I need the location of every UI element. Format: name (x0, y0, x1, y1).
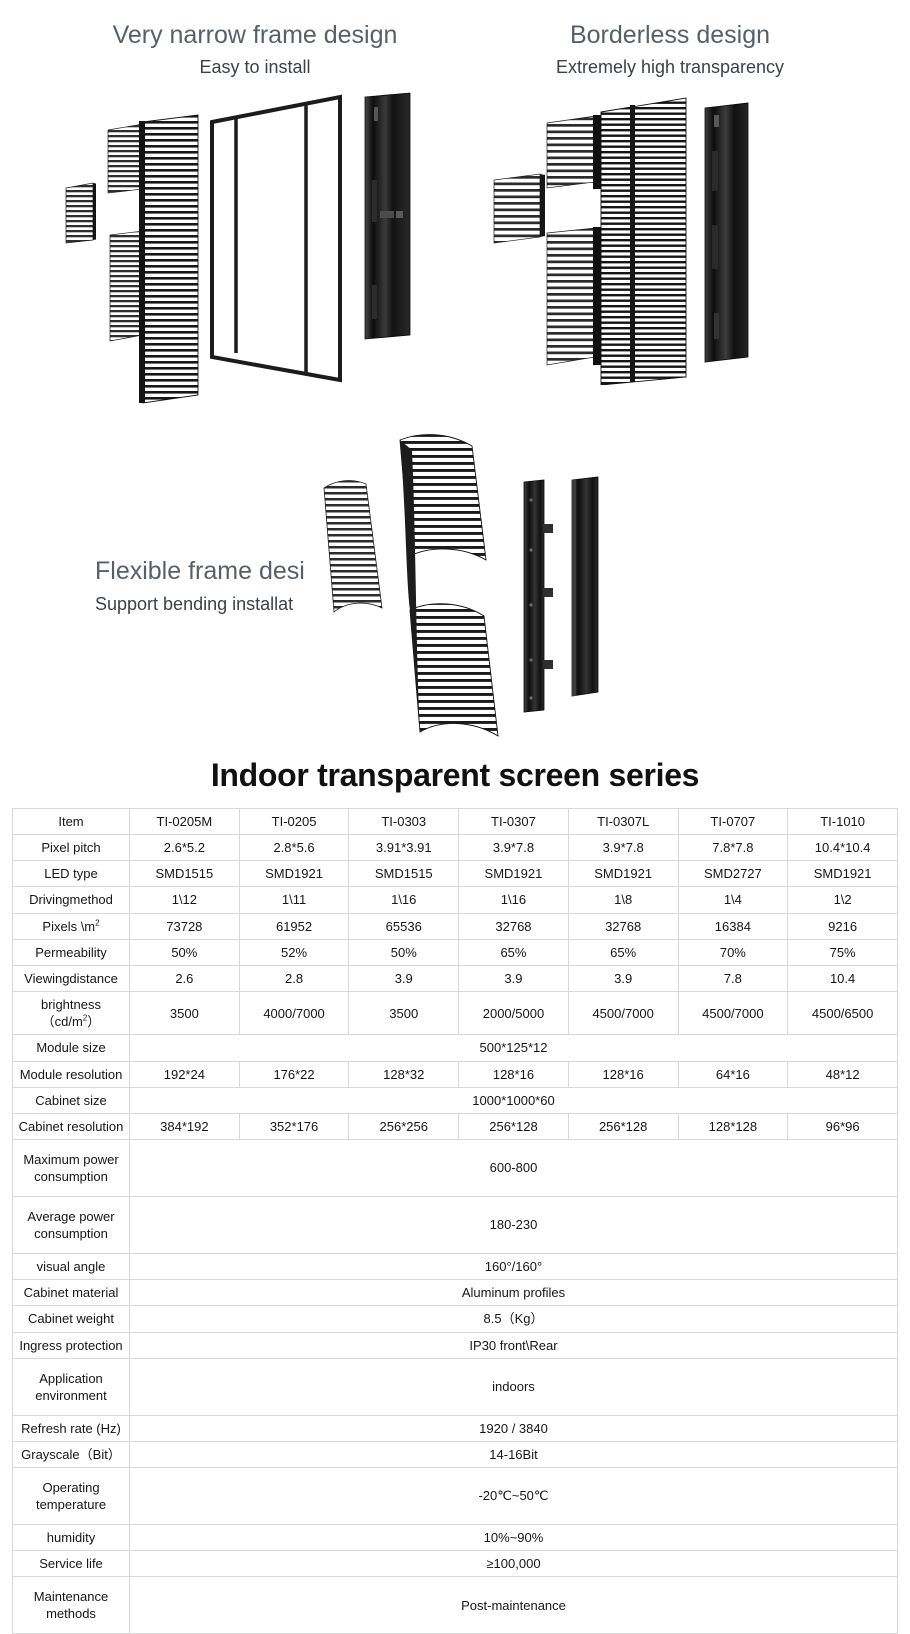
spec-table: ItemTI-0205MTI-0205TI-0303TI-0307TI-0307… (12, 808, 898, 1634)
table-cell: 256*128 (459, 1113, 569, 1139)
panel-connector-upper (593, 115, 601, 189)
table-row: Cabinet size1000*1000*60 (13, 1087, 898, 1113)
table-cell: 3.9*7.8 (459, 835, 569, 861)
table-cell-merged: 180-230 (130, 1197, 898, 1254)
led-mesh-subpanel-upper (547, 116, 595, 188)
table-cell: 2.6*5.2 (130, 835, 240, 861)
table-cell: 3.91*3.91 (349, 835, 459, 861)
table-row: Pixel pitch2.6*5.22.8*5.63.91*3.913.9*7.… (13, 835, 898, 861)
table-header-model: TI-0205 (239, 809, 349, 835)
table-row: Module resolution192*24176*22128*32128*1… (13, 1061, 898, 1087)
table-cell: 4500/7000 (568, 992, 678, 1035)
table-row: Drivingmethod1\121\111\161\161\81\41\2 (13, 887, 898, 913)
table-cell: SMD1515 (130, 861, 240, 887)
table-row: Cabinet materialAluminum profiles (13, 1280, 898, 1306)
table-cell-merged: 1920 / 3840 (130, 1415, 898, 1441)
table-row: Maintenance methodsPost-maintenance (13, 1577, 898, 1634)
table-cell: 32768 (568, 913, 678, 939)
table-row-label: Drivingmethod (13, 887, 130, 913)
exploded-panel-frame-illustration (40, 85, 460, 405)
table-row-label: Cabinet resolution (13, 1113, 130, 1139)
table-row-label: Application environment (13, 1358, 130, 1415)
table-cell: 96*96 (788, 1113, 898, 1139)
table-cell: 4000/7000 (239, 992, 349, 1035)
table-cell: SMD1921 (568, 861, 678, 887)
table-cell: 61952 (239, 913, 349, 939)
feature-borderless: Borderless design Extremely high transpa… (485, 22, 855, 78)
table-row-label: Cabinet material (13, 1280, 130, 1306)
table-cell: 3500 (349, 992, 459, 1035)
table-row: Operating temperature-20℃~50℃ (13, 1467, 898, 1524)
feature-flexible-frame-title: Flexible frame desi (95, 558, 445, 586)
table-cell: 50% (349, 939, 459, 965)
table-cell: 1\8 (568, 887, 678, 913)
table-cell: SMD2727 (678, 861, 788, 887)
table-cell: 75% (788, 939, 898, 965)
table-row-label: Cabinet weight (13, 1306, 130, 1332)
table-row-label: visual angle (13, 1254, 130, 1280)
table-header-row: ItemTI-0205MTI-0205TI-0303TI-0307TI-0307… (13, 809, 898, 835)
table-row: Maximum power consumption600-800 (13, 1140, 898, 1197)
table-cell-merged: 8.5（Kg） (130, 1306, 898, 1332)
exploded-borderless-panel-illustration (462, 85, 752, 385)
table-cell: 1\12 (130, 887, 240, 913)
table-cell-merged: 600-800 (130, 1140, 898, 1197)
table-header-model: TI-0307 (459, 809, 569, 835)
table-cell-merged: 160°/160° (130, 1254, 898, 1280)
table-row-label: Permeability (13, 939, 130, 965)
table-row-label: Pixels \m2 (13, 913, 130, 939)
table-row-label: brightness（cd/m2） (13, 992, 130, 1035)
small-led-module (66, 183, 96, 243)
table-cell: 384*192 (130, 1113, 240, 1139)
table-row: Pixels \m2737286195265536327683276816384… (13, 913, 898, 939)
table-cell: 2000/5000 (459, 992, 569, 1035)
table-cell: 10.4*10.4 (788, 835, 898, 861)
table-cell: 1\16 (459, 887, 569, 913)
feature-borderless-subtitle: Extremely high transparency (485, 57, 855, 78)
table-cell: 1\2 (788, 887, 898, 913)
table-header-model: TI-0303 (349, 809, 459, 835)
frame-profile-bar (705, 103, 748, 362)
feature-flexible-frame: Flexible frame desi Support bending inst… (40, 558, 445, 615)
table-cell: 73728 (130, 913, 240, 939)
table-cell-merged: Post-maintenance (130, 1577, 898, 1634)
table-cell-merged: Aluminum profiles (130, 1280, 898, 1306)
table-cell: 3.9 (349, 965, 459, 991)
table-header-model: TI-0205M (130, 809, 240, 835)
led-mesh-subpanel-lower (110, 231, 143, 341)
table-cell: 4500/6500 (788, 992, 898, 1035)
table-cell: 3500 (130, 992, 240, 1035)
table-row-label: Pixel pitch (13, 835, 130, 861)
cabinet-frame-wireframe (212, 97, 340, 380)
table-cell: 65% (459, 939, 569, 965)
table-row: Average power consumption180-230 (13, 1197, 898, 1254)
table-cell: 2.8*5.6 (239, 835, 349, 861)
table-cell: 3.9 (568, 965, 678, 991)
table-cell: 10.4 (788, 965, 898, 991)
table-row-label: Maximum power consumption (13, 1140, 130, 1197)
table-row-label: Cabinet size (13, 1087, 130, 1113)
table-cell-merged: indoors (130, 1358, 898, 1415)
table-cell: 16384 (678, 913, 788, 939)
feature-narrow-frame-title: Very narrow frame design (55, 22, 455, 50)
table-row-label: Service life (13, 1551, 130, 1577)
table-cell: 128*128 (678, 1113, 788, 1139)
table-cell: 1\11 (239, 887, 349, 913)
table-row: Cabinet resolution384*192352*176256*2562… (13, 1113, 898, 1139)
table-cell: 4500/7000 (678, 992, 788, 1035)
curved-led-panel-lower (410, 604, 498, 736)
led-mesh-panel-main (601, 98, 686, 385)
table-row: Permeability50%52%50%65%65%70%75% (13, 939, 898, 965)
table-cell-merged: 500*125*12 (130, 1035, 898, 1061)
table-cell: SMD1921 (788, 861, 898, 887)
table-row-label: Viewingdistance (13, 965, 130, 991)
table-cell: SMD1921 (239, 861, 349, 887)
table-header-model: TI-0707 (678, 809, 788, 835)
frame-profile-bar (365, 93, 410, 339)
table-cell: 3.9*7.8 (568, 835, 678, 861)
table-row-label: humidity (13, 1524, 130, 1550)
table-cell: 65% (568, 939, 678, 965)
table-row: visual angle160°/160° (13, 1254, 898, 1280)
table-cell: 52% (239, 939, 349, 965)
feature-narrow-frame-subtitle: Easy to install (55, 57, 455, 78)
table-cell: 256*128 (568, 1113, 678, 1139)
table-cell: 176*22 (239, 1061, 349, 1087)
table-header-model: TI-0307L (568, 809, 678, 835)
small-led-module (494, 174, 545, 243)
table-row-label: Average power consumption (13, 1197, 130, 1254)
table-cell: 64*16 (678, 1061, 788, 1087)
table-row-label: Module size (13, 1035, 130, 1061)
table-cell: 65536 (349, 913, 459, 939)
feature-flexible-frame-subtitle: Support bending installat (95, 594, 445, 615)
table-cell: 48*12 (788, 1061, 898, 1087)
table-cell: SMD1921 (459, 861, 569, 887)
table-row: Module size500*125*12 (13, 1035, 898, 1061)
table-cell: 2.8 (239, 965, 349, 991)
feature-borderless-title: Borderless design (485, 22, 855, 50)
table-row-label: Grayscale（Bit） (13, 1441, 130, 1467)
table-row: humidity10%~90% (13, 1524, 898, 1550)
table-cell: 128*16 (459, 1061, 569, 1087)
table-row-label: Refresh rate (Hz) (13, 1415, 130, 1441)
table-cell-merged: IP30 front\Rear (130, 1332, 898, 1358)
table-cell: 2.6 (130, 965, 240, 991)
table-header-model: TI-1010 (788, 809, 898, 835)
table-row: brightness（cd/m2）35004000/700035002000/5… (13, 992, 898, 1035)
table-cell: 32768 (459, 913, 569, 939)
series-title: Indoor transparent screen series (0, 757, 910, 794)
table-row: Application environmentindoors (13, 1358, 898, 1415)
table-row-label: Ingress protection (13, 1332, 130, 1358)
table-cell: 192*24 (130, 1061, 240, 1087)
panel-connector-lower (593, 227, 601, 365)
table-cell-merged: -20℃~50℃ (130, 1467, 898, 1524)
table-cell: 7.8*7.8 (678, 835, 788, 861)
table-cell-merged: ≥100,000 (130, 1551, 898, 1577)
table-cell: 70% (678, 939, 788, 965)
table-cell: 128*32 (349, 1061, 459, 1087)
led-mesh-subpanel-upper (108, 124, 143, 193)
table-cell: 50% (130, 939, 240, 965)
table-cell: SMD1515 (349, 861, 459, 887)
table-row: Viewingdistance2.62.83.93.93.97.810.4 (13, 965, 898, 991)
profile-extrusion-bar (572, 477, 598, 696)
table-row: LED typeSMD1515SMD1921SMD1515SMD1921SMD1… (13, 861, 898, 887)
table-row: Grayscale（Bit）14-16Bit (13, 1441, 898, 1467)
table-row-label: Operating temperature (13, 1467, 130, 1524)
table-row-label: LED type (13, 861, 130, 887)
table-row: Ingress protectionIP30 front\Rear (13, 1332, 898, 1358)
table-header-item: Item (13, 809, 130, 835)
table-cell-merged: 1000*1000*60 (130, 1087, 898, 1113)
table-row-label: Module resolution (13, 1061, 130, 1087)
table-cell-merged: 10%~90% (130, 1524, 898, 1550)
table-row: Refresh rate (Hz)1920 / 3840 (13, 1415, 898, 1441)
table-cell: 1\16 (349, 887, 459, 913)
table-cell: 1\4 (678, 887, 788, 913)
table-cell: 3.9 (459, 965, 569, 991)
table-cell-merged: 14-16Bit (130, 1441, 898, 1467)
table-cell: 128*16 (568, 1061, 678, 1087)
table-cell: 256*256 (349, 1113, 459, 1139)
table-row: Service life≥100,000 (13, 1551, 898, 1577)
table-row: Cabinet weight8.5（Kg） (13, 1306, 898, 1332)
table-cell: 9216 (788, 913, 898, 939)
led-mesh-subpanel-lower (547, 228, 595, 365)
table-row-label: Maintenance methods (13, 1577, 130, 1634)
mounting-rail-bracket (524, 480, 553, 712)
table-cell: 352*176 (239, 1113, 349, 1139)
led-mesh-panel-main (139, 115, 198, 403)
feature-narrow-frame: Very narrow frame design Easy to install (55, 22, 455, 78)
table-cell: 7.8 (678, 965, 788, 991)
spec-table-container: ItemTI-0205MTI-0205TI-0303TI-0307TI-0307… (12, 808, 898, 1634)
